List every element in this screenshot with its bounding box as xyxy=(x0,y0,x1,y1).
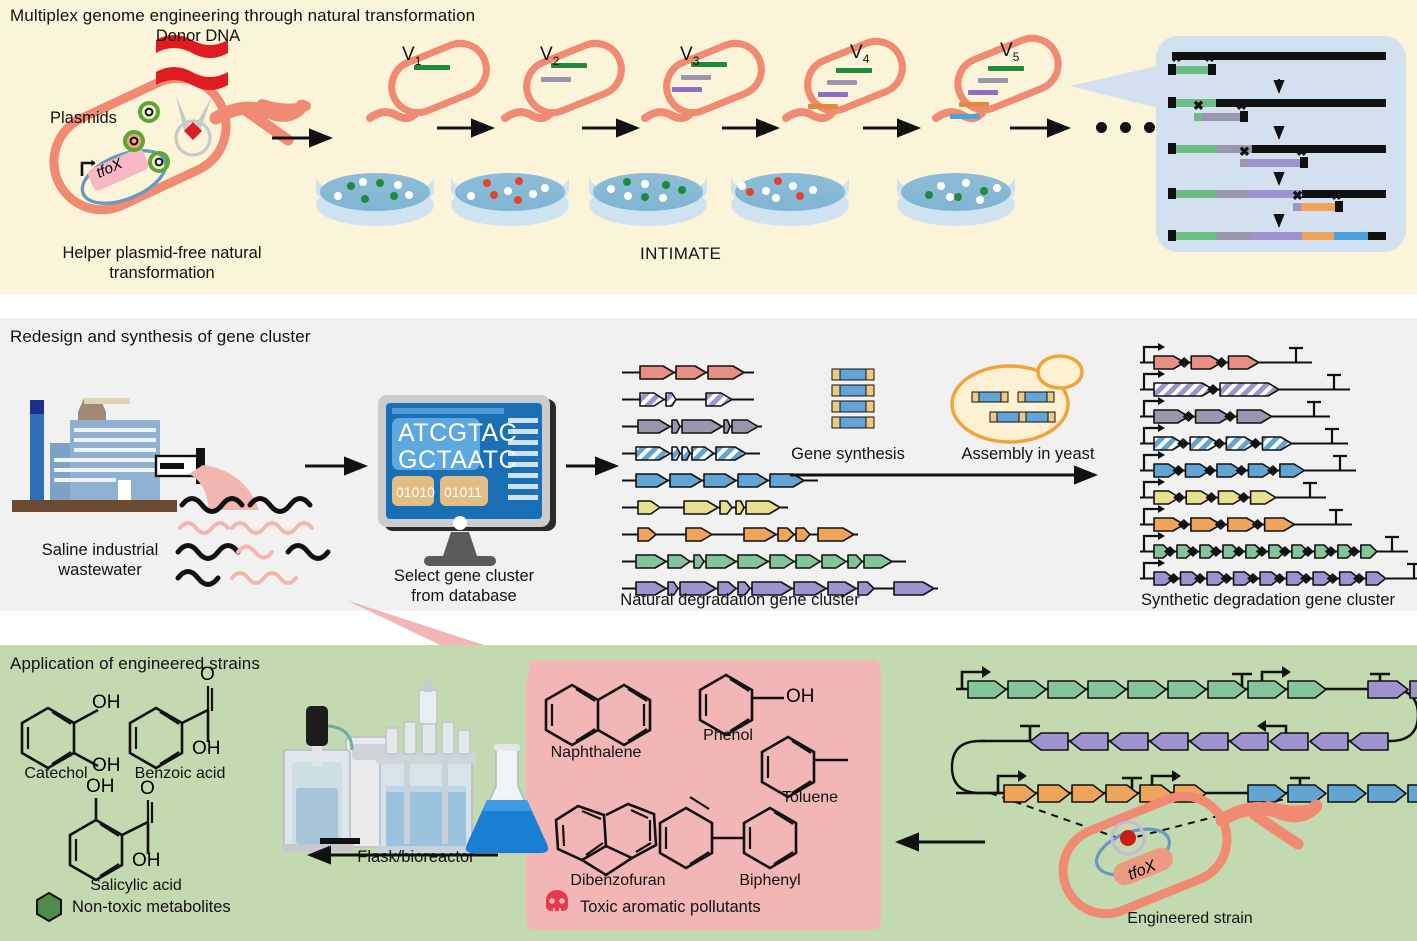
cell-label-v4: V4 xyxy=(850,42,869,66)
natural-cluster-caption: Natural degradation gene cluster xyxy=(600,590,880,610)
cell-label-v5: V5 xyxy=(1000,40,1019,64)
benzoic-acid-label: Benzoic acid xyxy=(110,765,250,783)
dibenzofuran-label: Dibenzofuran xyxy=(544,872,692,890)
bioreactor-label: Flask/bioreactor xyxy=(336,848,496,867)
engineered-strain-label: Engineered strain xyxy=(1090,910,1290,928)
benzoic-oh: OH xyxy=(192,738,221,760)
sequence-line-1: ATCGTAC xyxy=(398,420,517,447)
helper-transformation-caption: Helper plasmid-free natural transformati… xyxy=(32,243,292,283)
donor-dna-label: Donor DNA xyxy=(138,26,258,46)
plasmids-label: Plasmids xyxy=(50,108,130,128)
toxic-legend-label: Toxic aromatic pollutants xyxy=(580,898,761,917)
panel-mid-title: Redesign and synthesis of gene cluster xyxy=(10,327,311,347)
assembly-yeast-caption: Assembly in yeast xyxy=(948,444,1108,464)
salicylic-acid-label: Salicylic acid xyxy=(50,877,222,895)
naphthalene-label: Naphthalene xyxy=(532,744,660,762)
catechol-oh-bottom: OH xyxy=(92,755,121,777)
nontoxic-legend: Non-toxic metabolites xyxy=(30,898,231,917)
wastewater-caption: Saline industrial wastewater xyxy=(10,540,190,580)
nontoxic-legend-label: Non-toxic metabolites xyxy=(72,898,231,917)
toluene-label: Toluene xyxy=(762,789,858,807)
monitor-sequence-display: ATCGTAC GCTAATC xyxy=(398,420,517,474)
ellipsis-dots xyxy=(1096,122,1155,133)
salicylic-oh-ring: OH xyxy=(86,776,115,798)
select-cluster-caption: Select gene cluster from database xyxy=(368,566,560,606)
toxic-legend: Toxic aromatic pollutants xyxy=(540,898,761,917)
sequence-line-2: GCTAATC xyxy=(398,447,517,474)
binary-left-label: 01010 xyxy=(396,484,435,500)
panel-application-engineered-strains xyxy=(0,645,1417,941)
panel-top-title: Multiplex genome engineering through nat… xyxy=(10,6,475,26)
panel-bot-title: Application of engineered strains xyxy=(10,654,260,674)
biphenyl-label: Biphenyl xyxy=(712,872,828,890)
benzoic-o: O xyxy=(200,664,215,686)
gene-synthesis-caption: Gene synthesis xyxy=(778,444,918,464)
intimate-label: INTIMATE xyxy=(640,244,721,264)
synthetic-cluster-caption: Synthetic degradation gene cluster xyxy=(1122,590,1414,610)
phenol-label: Phenol xyxy=(690,727,766,745)
cell-label-v2: V2 xyxy=(540,44,559,68)
panel-redesign-synthesis xyxy=(0,318,1417,611)
figure-root: Multiplex genome engineering through nat… xyxy=(0,0,1417,941)
binary-right-label: 01011 xyxy=(444,484,482,500)
phenol-oh: OH xyxy=(786,686,815,708)
salicylic-oh-acid: OH xyxy=(132,850,161,872)
salicylic-o: O xyxy=(140,778,155,800)
cell-label-v1: V1 xyxy=(402,44,421,68)
cell-label-v3: V3 xyxy=(680,44,699,68)
catechol-oh-top: OH xyxy=(92,692,121,714)
